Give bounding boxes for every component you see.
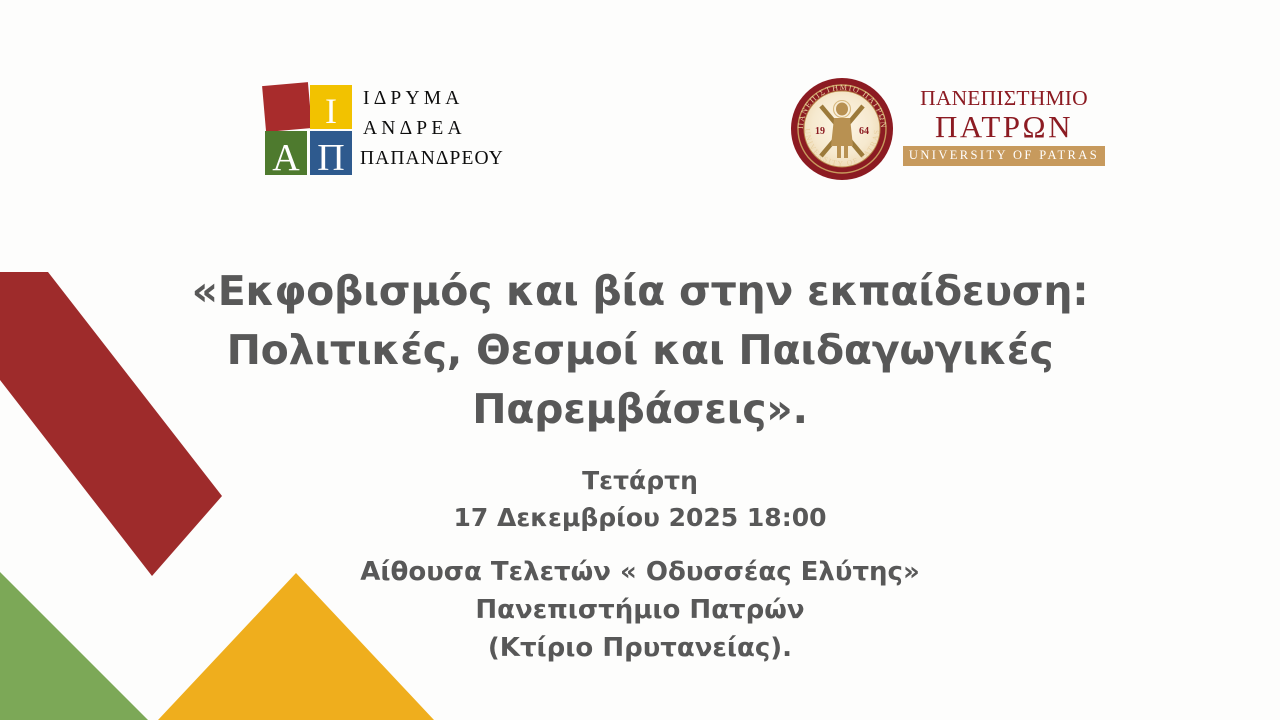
event-poster: Ι Α Π ΙΔΡΥΜΑ ΑΝΔΡΕΑ ΠΑΠΑΝΔΡΕΟΥ: [0, 0, 1280, 720]
event-venue-block: Αίθουσα Τελετών « Οδυσσέας Ελύτης» Πανεπ…: [0, 553, 1280, 667]
seal-year-left: 19: [815, 126, 825, 137]
patras-wordmark: ΠΑΝΕΠΙΣΤΗΜΙΟ ΠΑΤΡΩΝ UNIVERSITY OF PATRAS: [903, 86, 1105, 166]
event-title-line-3: Παρεμβάσεις».: [110, 380, 1170, 439]
patras-wordmark-line-1: ΠΑΝΕΠΙΣΤΗΜΙΟ: [903, 86, 1105, 110]
papandreou-wordmark-line-3: ΠΑΠΑΝΔΡΕΟΥ: [360, 144, 565, 174]
seal-year-right: 64: [859, 126, 869, 137]
university-of-patras-seal: ΠΑΝΕΠΙΣΤΗΜΙΟ ΠΑΤΡΩΝ UNIVERSITY OF PATRAS…: [789, 76, 895, 182]
yellow-square-letter: Ι: [325, 91, 337, 131]
idryma-andrea-papandreou-logo: Ι Α Π ΙΔΡΥΜΑ ΑΝΔΡΕΑ ΠΑΠΑΝΔΡΕΟΥ: [262, 82, 562, 182]
papandreou-wordmark-line-1: ΙΔΡΥΜΑ: [360, 84, 565, 114]
event-title-line-1: «Εκφοβισμός και βία στην εκπαίδευση:: [110, 262, 1170, 321]
event-venue-building: (Κτίριο Πρυτανείας).: [0, 629, 1280, 667]
patras-wordmark-subtitle-bar: UNIVERSITY OF PATRAS: [903, 146, 1105, 166]
event-date-block: Τετάρτη 17 Δεκεμβρίου 2025 18:00: [0, 462, 1280, 536]
red-square: [262, 82, 312, 132]
green-square-letter: Α: [272, 137, 300, 178]
papandreou-wordmark-line-2: ΑΝΔΡΕΑ: [360, 114, 565, 144]
blue-square-letter: Π: [317, 137, 344, 178]
papandreou-foundation-mark: Ι Α Π: [262, 82, 354, 178]
event-day: Τετάρτη: [0, 462, 1280, 499]
poster-content: «Εκφοβισμός και βία στην εκπαίδευση: Πολ…: [0, 262, 1280, 667]
event-venue-hall: Αίθουσα Τελετών « Οδυσσέας Ελύτης»: [0, 553, 1280, 591]
patras-wordmark-line-2: ΠΑΤΡΩΝ: [903, 110, 1105, 144]
papandreou-foundation-wordmark: ΙΔΡΥΜΑ ΑΝΔΡΕΑ ΠΑΠΑΝΔΡΕΟΥ: [360, 84, 565, 174]
event-title: «Εκφοβισμός και βία στην εκπαίδευση: Πολ…: [110, 262, 1170, 439]
event-title-line-2: Πολιτικές, Θεσμοί και Παιδαγωγικές: [110, 321, 1170, 380]
event-venue-institution: Πανεπιστήμιο Πατρών: [0, 591, 1280, 629]
logo-row: Ι Α Π ΙΔΡΥΜΑ ΑΝΔΡΕΑ ΠΑΠΑΝΔΡΕΟΥ: [0, 62, 1280, 192]
university-of-patras-logo: ΠΑΝΕΠΙΣΤΗΜΙΟ ΠΑΤΡΩΝ UNIVERSITY OF PATRAS…: [789, 76, 1109, 188]
event-datetime: 17 Δεκεμβρίου 2025 18:00: [0, 499, 1280, 536]
